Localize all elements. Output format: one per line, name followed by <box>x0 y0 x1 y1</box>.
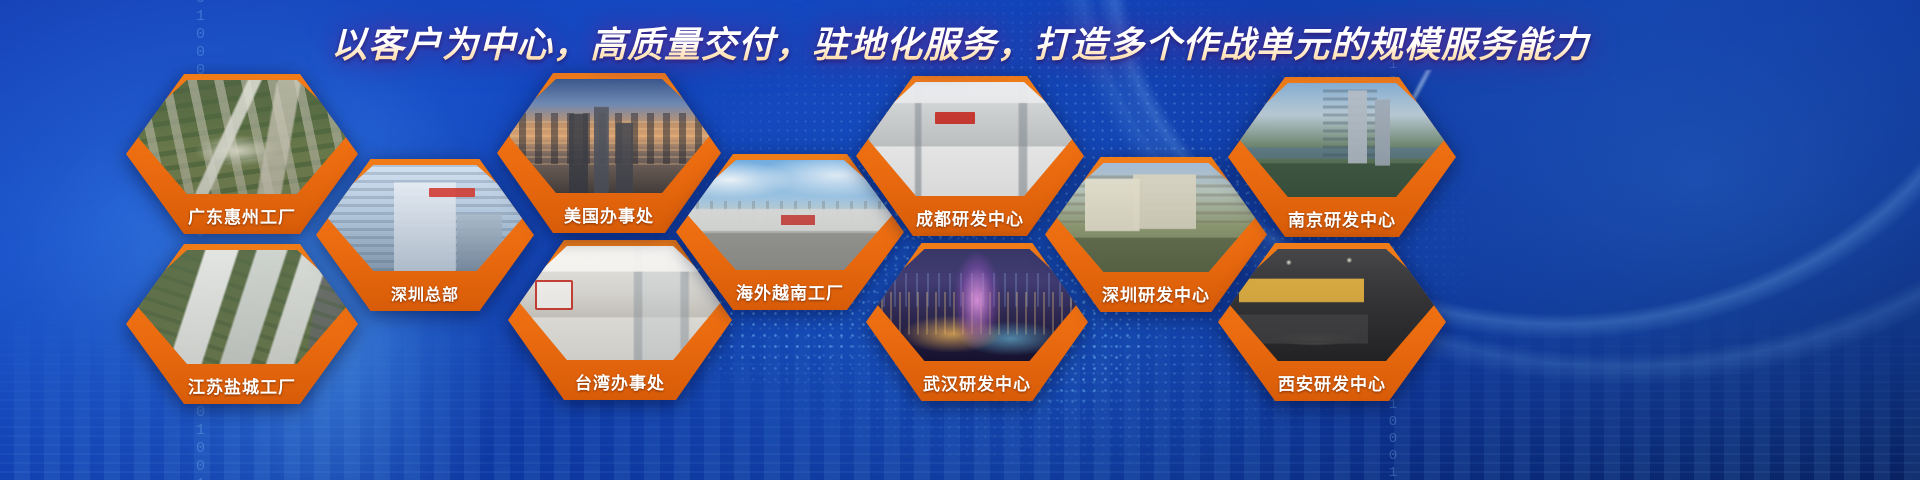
hex-label: 南京研发中心 <box>1228 206 1456 231</box>
banner-headline: 以客户为中心，高质量交付，驻地化服务，打造多个作战单元的规模服务能力 <box>0 16 1920 68</box>
hex-label: 台湾办事处 <box>508 369 732 394</box>
hex-tile-nanjing-rd-center[interactable]: 南京研发中心 <box>1228 77 1456 237</box>
hex-photo-nanjing <box>1234 83 1450 197</box>
hex-label: 深圳总部 <box>316 281 534 305</box>
hex-tile-xian-rd-center[interactable]: 西安研发中心 <box>1218 243 1446 401</box>
hex-label: 西安研发中心 <box>1218 370 1446 395</box>
binary-stream-left-decoration: 0100010011001000100011001001000100010011… <box>118 0 208 480</box>
company-locations-banner: 0100010011001000100011001001000100010011… <box>0 0 1920 480</box>
hex-label: 武汉研发中心 <box>866 370 1088 395</box>
hex-label: 江苏盐城工厂 <box>126 373 358 398</box>
hex-frame: 西安研发中心 <box>1218 243 1446 401</box>
hex-photo-reception <box>1224 249 1440 361</box>
hex-frame: 南京研发中心 <box>1228 77 1456 237</box>
